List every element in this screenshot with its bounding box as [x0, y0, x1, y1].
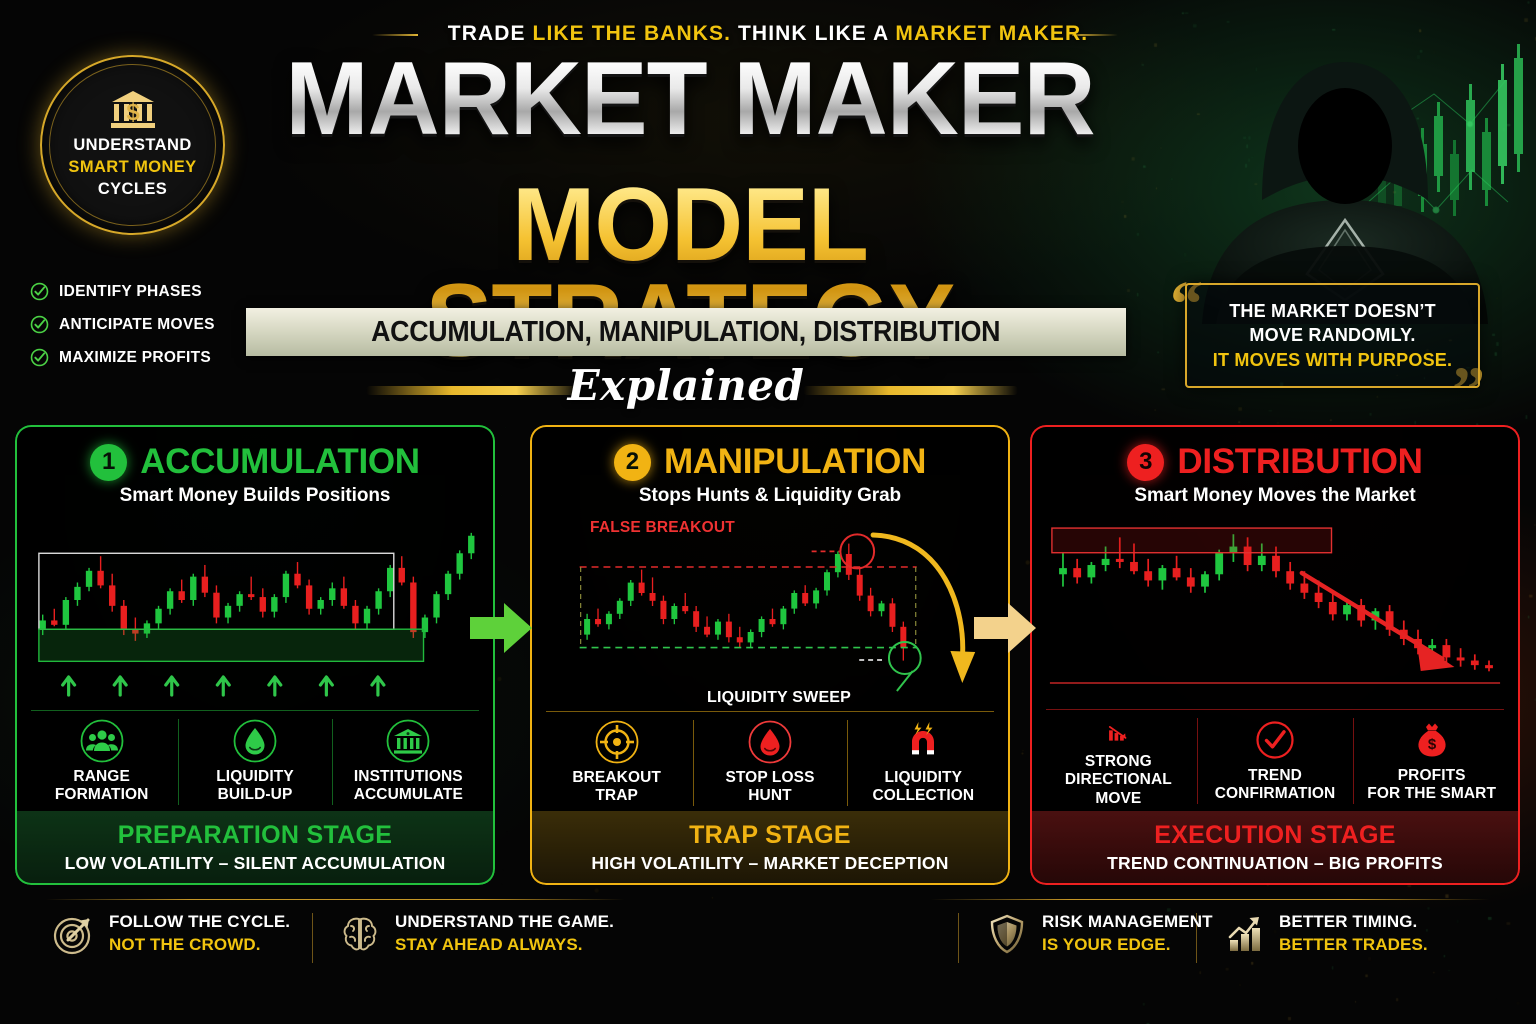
checklist-label: IDENTIFY PHASES: [59, 283, 202, 301]
checklist-item-identify-phases: IDENTIFY PHASES: [30, 275, 260, 308]
card-stage-banner: EXECUTION STAGE TREND CONTINUATION – BIG…: [1030, 811, 1520, 885]
footer-item-line-1: RISK MANAGEMENT: [1042, 911, 1213, 934]
card-title: DISTRIBUTION: [1177, 442, 1422, 482]
stage-title: TRAP STAGE: [689, 821, 851, 850]
stage-subtitle: TREND CONTINUATION – BIG PROFITS: [1107, 853, 1443, 874]
header: TRADE LIKE THE BANKS. THINK LIKE A MARKE…: [0, 0, 1536, 420]
feature-label-1: BREAKOUT: [572, 769, 661, 786]
brush-stroke-left: [366, 386, 581, 395]
checklist-label: ANTICIPATE MOVES: [59, 316, 215, 334]
card-header: 1 ACCUMULATION Smart Money Builds Positi…: [17, 442, 493, 507]
footer-item-follow-the-cycle: FOLLOW THE CYCLE. NOT THE CROWD.: [52, 911, 290, 957]
explained-banner: Explained: [246, 358, 1126, 412]
footer-item-line-1: UNDERSTAND THE GAME.: [395, 911, 614, 934]
check-circle-icon: [30, 348, 49, 367]
feature-label-2: DIRECTIONAL MOVE: [1065, 771, 1172, 806]
distribution-candlestick-chart: [1042, 509, 1508, 705]
benefits-checklist: IDENTIFY PHASES ANTICIPATE MOVES MAXIMIZ…: [30, 275, 260, 374]
phase-card-distribution[interactable]: 3 DISTRIBUTION Smart Money Moves the Mar…: [1030, 425, 1520, 885]
quote-line-1: THE MARKET DOESN’T: [1229, 299, 1436, 323]
footer-item-better-timing: BETTER TIMING. BETTER TRADES.: [1222, 911, 1428, 957]
card-divider: [546, 711, 994, 712]
card-divider: [1046, 709, 1504, 710]
explained-text: Explained: [568, 361, 805, 410]
annotation-false-breakout: FALSE BREAKOUT: [590, 519, 735, 537]
crosshair-target-icon: [595, 720, 639, 764]
footer-rule-left: [45, 899, 625, 900]
card-header: 3 DISTRIBUTION Smart Money Moves the Mar…: [1032, 442, 1518, 507]
footer-item-line-2: STAY AHEAD ALWAYS.: [395, 934, 614, 957]
brush-stroke-right: [803, 386, 1018, 395]
stage-subtitle: HIGH VOLATILITY – MARKET DECEPTION: [591, 853, 948, 874]
feature-label-2: FOR THE SMART: [1367, 785, 1496, 802]
badge-line-3: CYCLES: [98, 178, 167, 200]
subtitle-text: ACCUMULATION, MANIPULATION, DISTRIBUTION: [371, 316, 1000, 349]
feature-stop-loss-hunt: STOP LOSSHUNT: [693, 718, 846, 810]
feature-label-2: COLLECTION: [872, 787, 974, 804]
footer: FOLLOW THE CYCLE. NOT THE CROWD. UNDERST…: [0, 893, 1536, 1024]
feature-strong-directional-move: STRONGDIRECTIONAL MOVE: [1040, 716, 1197, 808]
card-subtitle: Smart Money Builds Positions: [17, 485, 493, 507]
connector-arrow-1: [468, 600, 534, 656]
feature-range-formation: RANGEFORMATION: [25, 717, 178, 809]
footer-item-line-2: IS YOUR EDGE.: [1042, 934, 1213, 957]
feature-label-1: TREND: [1248, 767, 1302, 784]
card-stage-banner: TRAP STAGE HIGH VOLATILITY – MARKET DECE…: [530, 811, 1010, 885]
feature-label-1: STRONG: [1085, 753, 1152, 770]
stage-subtitle: LOW VOLATILITY – SILENT ACCUMULATION: [65, 853, 446, 874]
check-circle-icon: [30, 282, 49, 301]
badge-understand-smart-money-cycles: $ UNDERSTAND SMART MONEY CYCLES: [40, 55, 225, 235]
card-body: 3 DISTRIBUTION Smart Money Moves the Mar…: [1030, 425, 1520, 815]
phase-card-manipulation[interactable]: 2 MANIPULATION Stops Hunts & Liquidity G…: [530, 425, 1010, 885]
target-arrow-icon: [52, 912, 96, 956]
footer-item-line-2: BETTER TRADES.: [1279, 934, 1428, 957]
growth-bar-chart-icon: [1222, 912, 1266, 956]
hooded-figure-illustration: [1150, 24, 1536, 324]
shield-icon: [985, 912, 1029, 956]
feature-label-1: RANGE: [73, 768, 129, 785]
card-header: 2 MANIPULATION Stops Hunts & Liquidity G…: [532, 442, 1008, 507]
footer-separator: [312, 913, 313, 963]
feature-label-2: ACCUMULATE: [354, 786, 463, 803]
card-feature-row: RANGEFORMATION LIQUIDITYBUILD-UP: [25, 717, 485, 809]
connector-arrow-2: [972, 600, 1038, 656]
svg-text:$: $: [1428, 736, 1437, 753]
feature-label-1: PROFITS: [1398, 767, 1466, 784]
card-body: 2 MANIPULATION Stops Hunts & Liquidity G…: [530, 425, 1010, 815]
brain-icon: [338, 912, 382, 956]
card-feature-row: BREAKOUTTRAP STOP LOSSHUNT LIQUI: [540, 718, 1000, 810]
annotation-liquidity-sweep: LIQUIDITY SWEEP: [707, 689, 851, 707]
check-circle-icon: [30, 315, 49, 334]
card-number-badge: 1: [90, 444, 127, 481]
water-drop-icon: [233, 719, 277, 763]
card-number-badge: 2: [614, 444, 651, 481]
feature-label-1: LIQUIDITY: [216, 768, 294, 785]
stage-title: EXECUTION STAGE: [1154, 821, 1396, 850]
feature-label-2: CONFIRMATION: [1215, 785, 1336, 802]
quote-line-3: IT MOVES WITH PURPOSE.: [1213, 348, 1452, 372]
declining-bar-chart-icon: [1096, 718, 1140, 748]
feature-liquidity-buildup: LIQUIDITYBUILD-UP: [178, 717, 331, 809]
footer-item-line-1: BETTER TIMING.: [1279, 911, 1428, 934]
feature-profits-for-the-smart: $ PROFITSFOR THE SMART: [1353, 716, 1510, 808]
feature-label-2: FORMATION: [55, 786, 149, 803]
card-stage-banner: PREPARATION STAGE LOW VOLATILITY – SILEN…: [15, 811, 495, 885]
people-group-icon: [80, 719, 124, 763]
feature-trend-confirmation: TRENDCONFIRMATION: [1197, 716, 1354, 808]
footer-item-line-2: NOT THE CROWD.: [109, 934, 290, 957]
card-title: MANIPULATION: [664, 442, 926, 482]
page-title-line-1: MARKET MAKER: [258, 52, 1122, 148]
subtitle-plate: ACCUMULATION, MANIPULATION, DISTRIBUTION: [246, 308, 1126, 356]
svg-text:$: $: [126, 99, 140, 126]
feature-breakout-trap: BREAKOUTTRAP: [540, 718, 693, 810]
stage-title: PREPARATION STAGE: [118, 821, 393, 850]
quote-line-2: MOVE RANDOMLY.: [1249, 323, 1415, 347]
card-subtitle: Smart Money Moves the Market: [1032, 485, 1518, 507]
check-circle-icon: [1253, 718, 1297, 762]
footer-item-understand-the-game: UNDERSTAND THE GAME. STAY AHEAD ALWAYS.: [338, 911, 614, 957]
checklist-label: MAXIMIZE PROFITS: [59, 349, 211, 367]
card-divider: [31, 710, 479, 711]
checklist-item-maximize-profits: MAXIMIZE PROFITS: [30, 341, 260, 374]
card-feature-row: STRONGDIRECTIONAL MOVE TRENDCONFIRMATION…: [1040, 716, 1510, 808]
accumulation-candlestick-chart: [27, 519, 483, 699]
feature-label-2: BUILD-UP: [218, 786, 293, 803]
feature-label-1: STOP LOSS: [725, 769, 814, 786]
phase-card-accumulation[interactable]: 1 ACCUMULATION Smart Money Builds Positi…: [15, 425, 495, 885]
footer-item-line-1: FOLLOW THE CYCLE.: [109, 911, 290, 934]
quote-box: THE MARKET DOESN’T MOVE RANDOMLY. IT MOV…: [1185, 283, 1480, 388]
feature-label-1: LIQUIDITY: [885, 769, 963, 786]
checklist-item-anticipate-moves: ANTICIPATE MOVES: [30, 308, 260, 341]
bank-dollar-icon: $: [111, 90, 155, 130]
feature-liquidity-collection: LIQUIDITYCOLLECTION: [847, 718, 1000, 810]
card-subtitle: Stops Hunts & Liquidity Grab: [532, 485, 1008, 507]
footer-separator: [958, 913, 959, 963]
card-body: 1 ACCUMULATION Smart Money Builds Positi…: [15, 425, 495, 815]
bank-icon: [386, 719, 430, 763]
badge-line-1: UNDERSTAND: [73, 134, 191, 156]
manipulation-candlestick-chart: FALSE BREAKOUT LIQUIDITY SWEEP: [542, 513, 998, 705]
footer-rule-right: [930, 899, 1490, 900]
feature-label-1: INSTITUTIONS: [354, 768, 463, 785]
feature-label-2: HUNT: [748, 787, 791, 804]
footer-item-risk-management: RISK MANAGEMENT IS YOUR EDGE.: [985, 911, 1213, 957]
money-bag-icon: $: [1410, 718, 1454, 762]
blood-drop-icon: [748, 720, 792, 764]
magnet-icon: [901, 720, 945, 764]
feature-label-2: TRAP: [595, 787, 638, 804]
feature-institutions-accumulate: INSTITUTIONSACCUMULATE: [332, 717, 485, 809]
badge-line-2: SMART MONEY: [68, 156, 196, 178]
card-number-badge: 3: [1127, 444, 1164, 481]
card-title: ACCUMULATION: [140, 442, 420, 482]
